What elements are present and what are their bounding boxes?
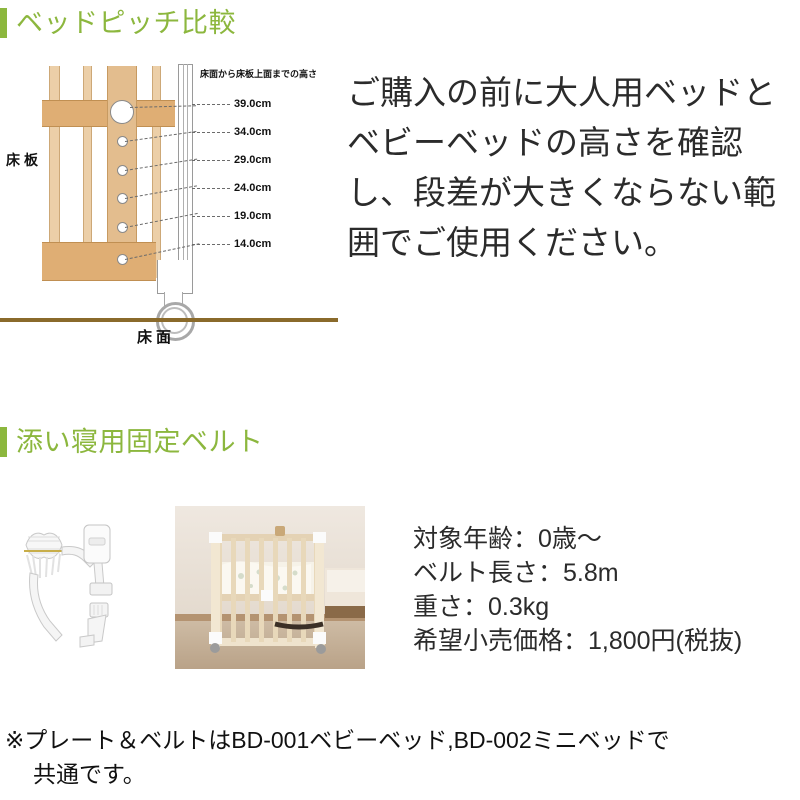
measuring-rail-foot bbox=[157, 260, 193, 294]
bed-pitch-diagram: 床板 床面から床板上面までの高さ 39.0cm 34.0cm 29.0cm 24… bbox=[0, 52, 340, 347]
floor-label: 床面 bbox=[137, 326, 175, 347]
measurement-label: 34.0cm bbox=[234, 126, 271, 138]
heading-accent-bar bbox=[0, 8, 7, 38]
section-heading-bed-pitch: ベッドピッチ比較 bbox=[0, 6, 236, 40]
measurement-label: 24.0cm bbox=[234, 182, 271, 194]
baby-bed-photo bbox=[175, 506, 365, 669]
measure-tick bbox=[192, 104, 230, 105]
measure-tick bbox=[192, 160, 230, 161]
bed-base-panel bbox=[42, 242, 156, 281]
spec-weight: 重さ：0.3kg bbox=[413, 590, 742, 624]
fixing-belt-photo bbox=[10, 495, 170, 675]
measure-tick bbox=[192, 188, 230, 189]
measurement-label: 39.0cm bbox=[234, 98, 271, 110]
bed-pitch-note-text: ご購入の前に大人用ベッドとベビーベッドの高さを確認し、段差が大きくならない範囲で… bbox=[347, 68, 799, 268]
measure-tick bbox=[192, 244, 230, 245]
spec-retail-price: 希望小売価格：1,800円(税抜) bbox=[413, 624, 742, 658]
footnote-line-1: ※プレート＆ベルトはBD-001ベビーベッド,BD-002ミニベッドで bbox=[5, 723, 795, 757]
heading-accent-bar bbox=[0, 427, 7, 457]
measuring-rail-inner bbox=[183, 64, 188, 260]
diagram-floorboard-label: 床板 bbox=[6, 150, 42, 170]
adjustment-hole bbox=[110, 100, 134, 124]
measurement-label: 29.0cm bbox=[234, 154, 271, 166]
measure-tick bbox=[192, 216, 230, 217]
measurement-label: 19.0cm bbox=[234, 210, 271, 222]
spec-target-age: 対象年齢：0歳～ bbox=[413, 522, 742, 556]
measure-tick bbox=[192, 132, 230, 133]
section-heading-fixing-belt: 添い寝用固定ベルト bbox=[0, 425, 264, 459]
measurement-label: 14.0cm bbox=[234, 238, 271, 250]
section-heading-label: 添い寝用固定ベルト bbox=[16, 427, 264, 457]
floor-line bbox=[0, 318, 338, 322]
footnote-line-2: 共通です。 bbox=[5, 757, 795, 791]
belt-specifications-list: 対象年齢：0歳～ ベルト長さ：5.8m 重さ：0.3kg 希望小売価格：1,80… bbox=[413, 522, 742, 658]
diagram-title-label: 床面から床板上面までの高さ bbox=[200, 67, 317, 80]
section-heading-label: ベッドピッチ比較 bbox=[16, 8, 236, 38]
spec-belt-length: ベルト長さ：5.8m bbox=[413, 556, 742, 590]
compatibility-footnote: ※プレート＆ベルトはBD-001ベビーベッド,BD-002ミニベッドで 共通です… bbox=[5, 723, 795, 791]
